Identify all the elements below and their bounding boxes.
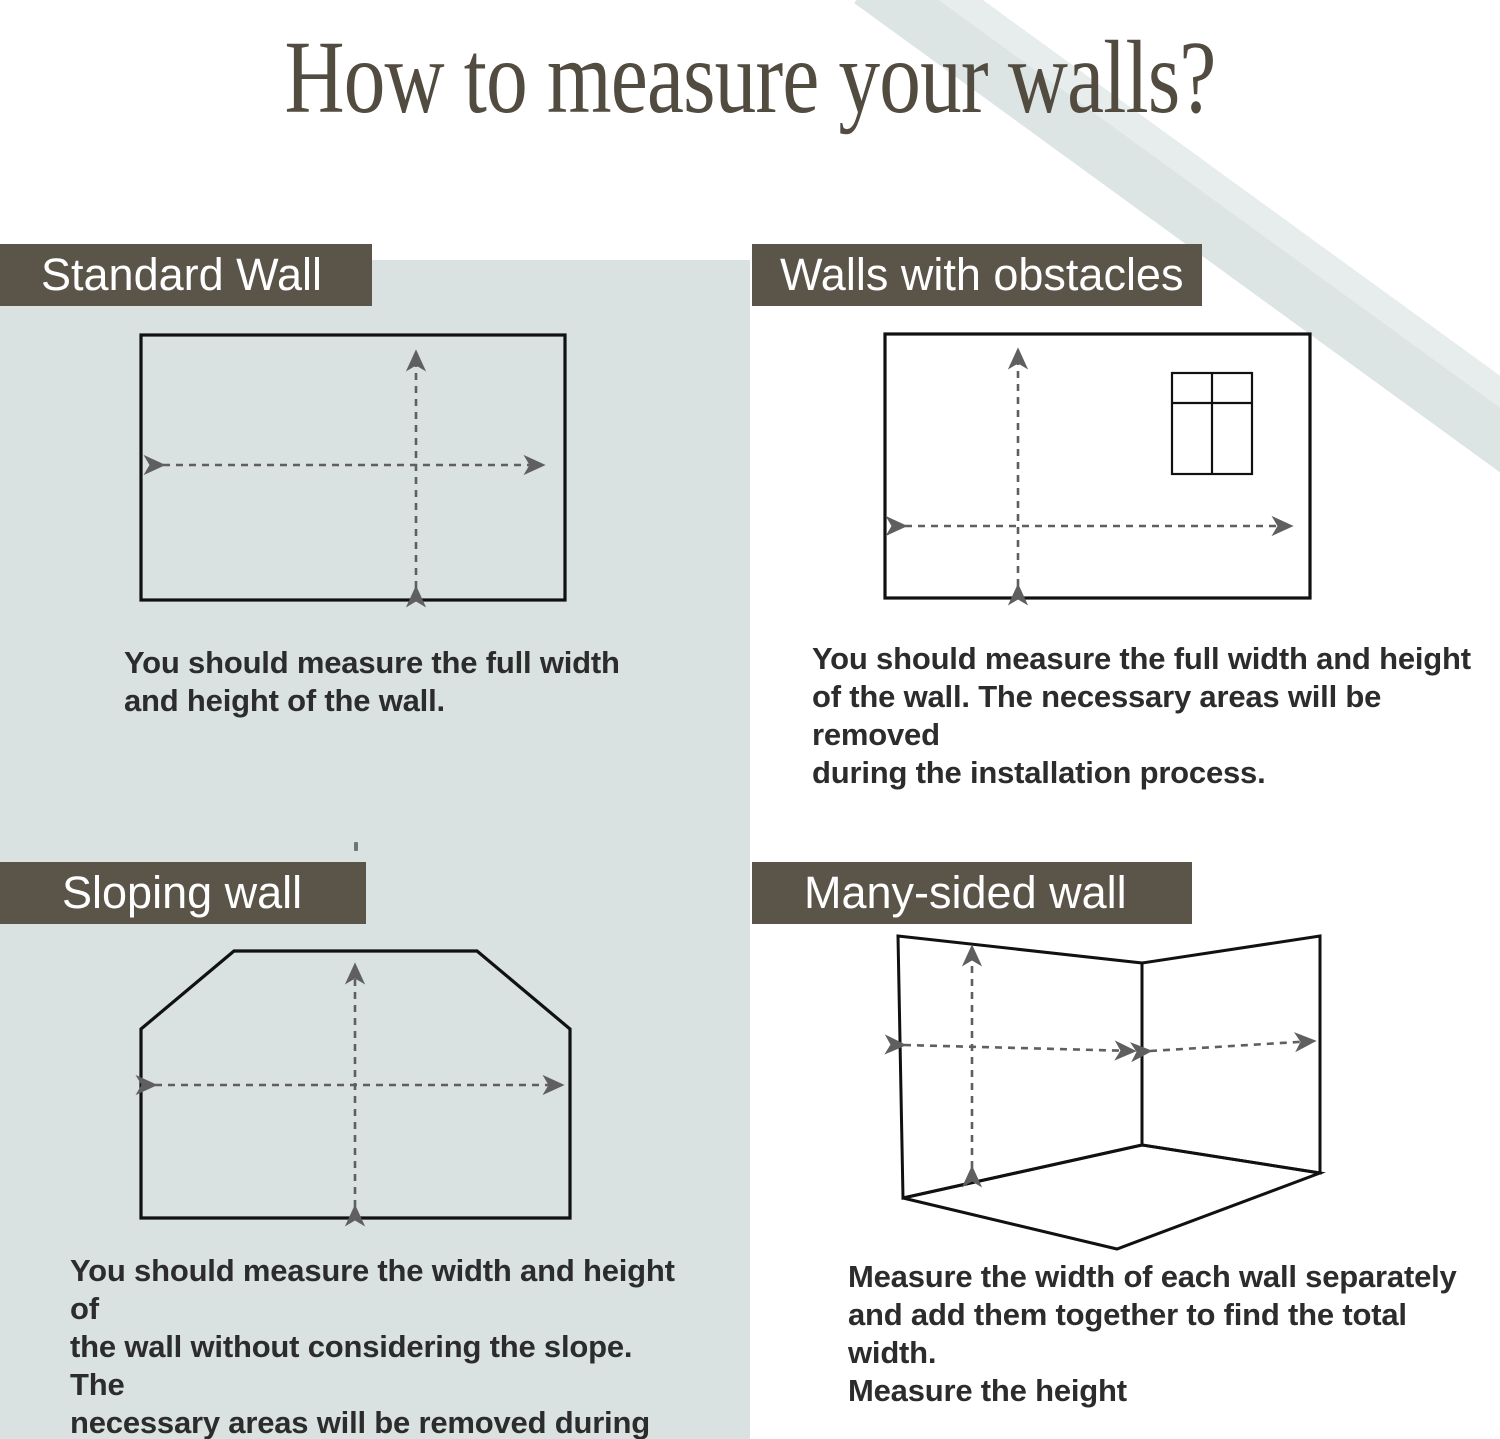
infographic-page: How to measure your walls? Standard Wall… [0,0,1500,1439]
speck-artifact [354,842,358,851]
floor-face [903,1145,1320,1249]
sloping-wall-svg [110,930,600,1240]
right-wall-face [1142,936,1320,1173]
page-title: How to measure your walls? [150,26,1350,130]
section-header-sloping-wall: Sloping wall [0,862,366,924]
section-header-label: Walls with obstacles [752,244,1202,306]
caption-sloping-wall: You should measure the width and height … [70,1252,680,1439]
right-wall-width-arrow [1150,1041,1314,1051]
corner-room-svg [870,920,1350,1265]
left-wall-width-arrow [904,1045,1134,1051]
diagram-walls-with-obstacles [860,320,1340,620]
left-wall-face [898,936,1142,1198]
section-header-label: Sloping wall [0,862,366,924]
standard-wall-svg [120,320,590,620]
caption-walls-with-obstacles: You should measure the full width and he… [812,640,1472,792]
section-header-standard-wall: Standard Wall [0,244,372,306]
wall-outline [141,335,565,600]
window-icon [1172,373,1252,474]
caption-standard-wall: You should measure the full width and he… [124,644,644,720]
section-header-many-sided-wall: Many-sided wall [752,862,1192,924]
caption-many-sided-wall: Measure the width of each wall separatel… [848,1258,1468,1410]
obstacles-wall-svg [860,320,1340,620]
section-header-walls-with-obstacles: Walls with obstacles [752,244,1202,306]
section-header-label: Many-sided wall [752,862,1192,924]
section-header-label: Standard Wall [0,244,372,306]
diagram-sloping-wall [110,930,600,1240]
diagram-many-sided-wall [870,920,1350,1265]
diagram-standard-wall [120,320,590,620]
